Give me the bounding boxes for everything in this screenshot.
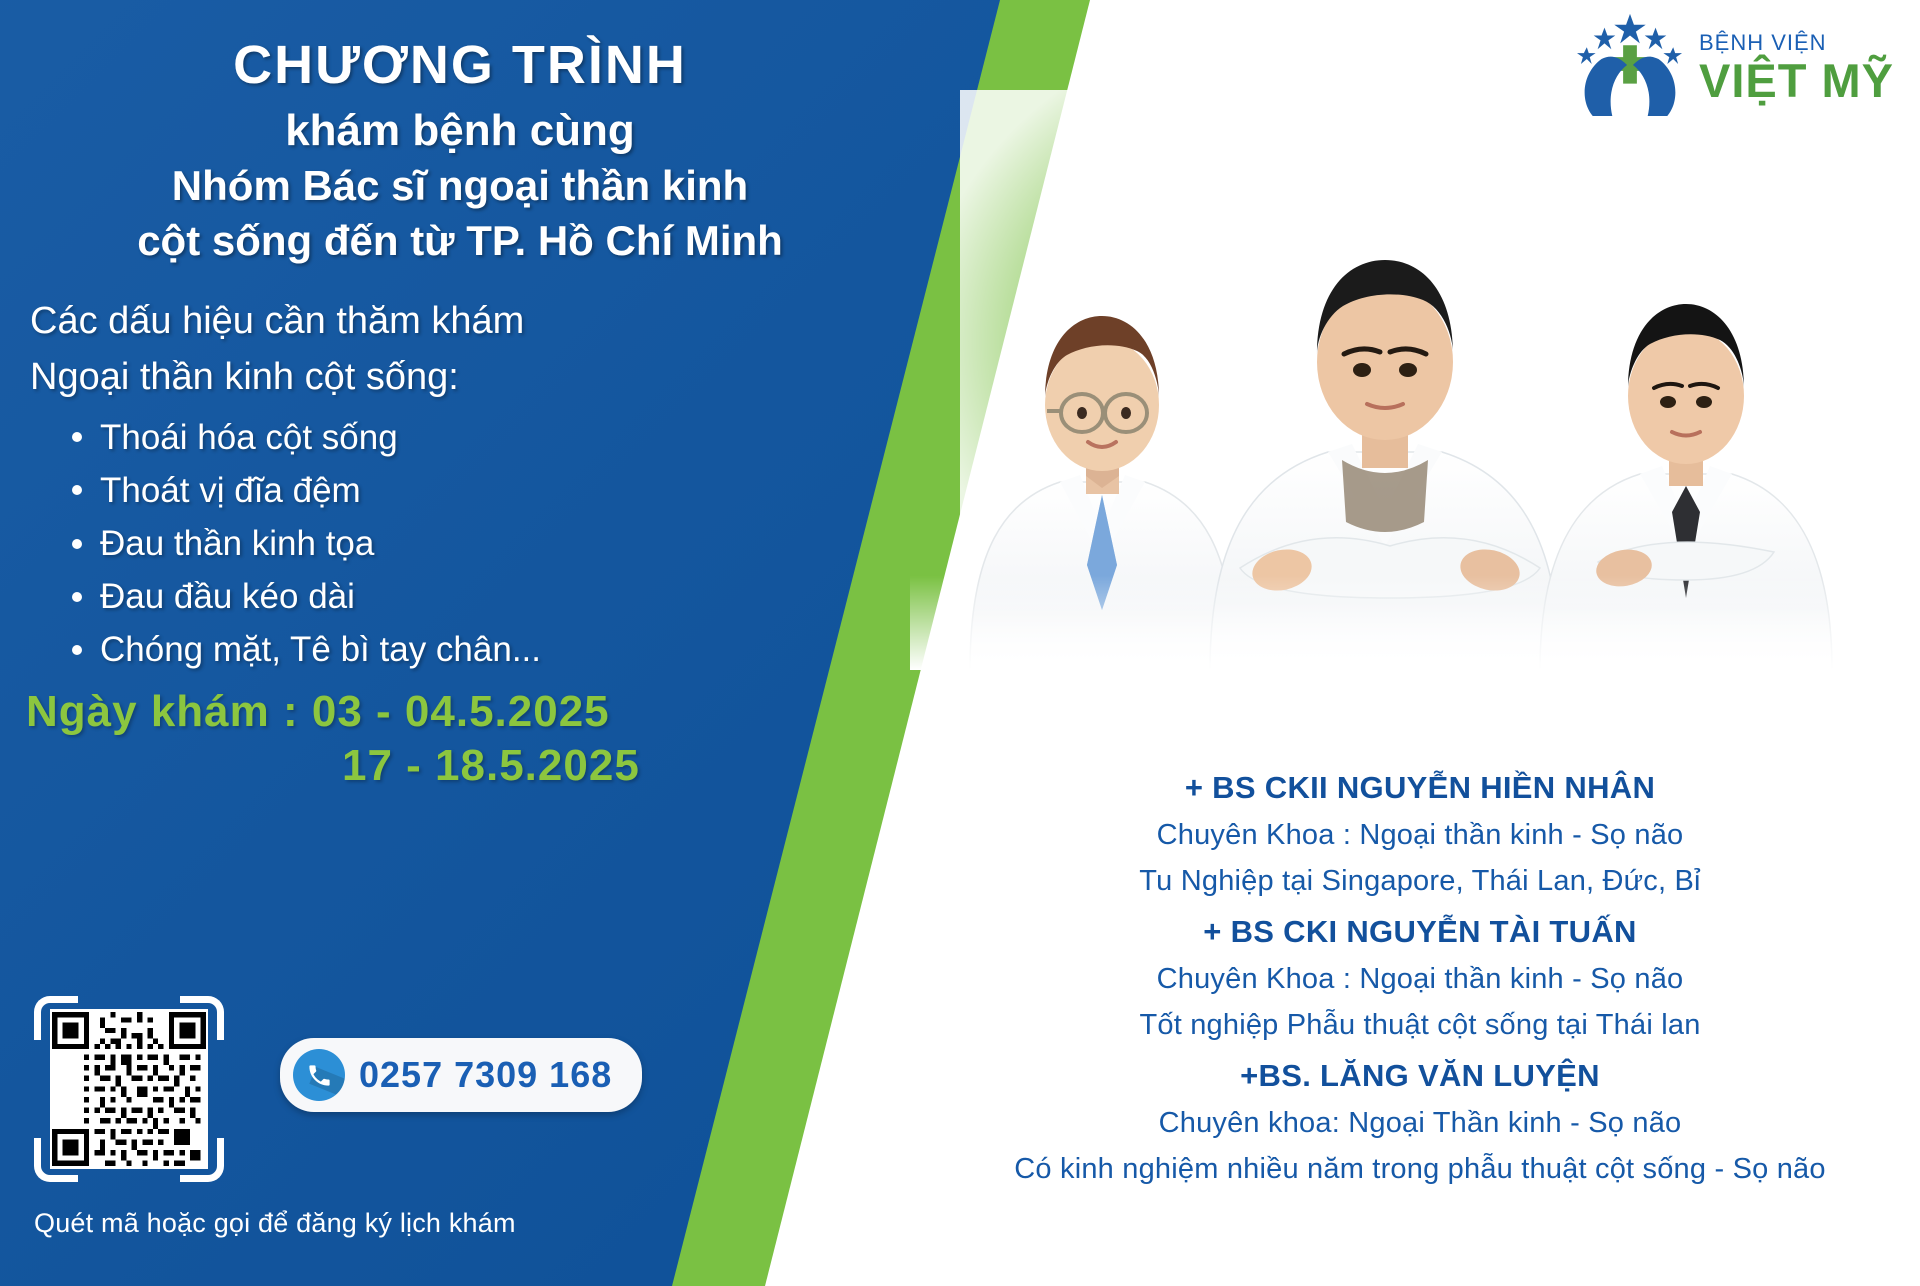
list-item: Thoát vị đĩa đệm [66,464,920,517]
headline-line-4: cột sống đến từ TP. Hồ Chí Minh [20,214,900,269]
headline-block: CHƯƠNG TRÌNH khám bệnh cùng Nhóm Bác sĩ … [0,0,920,268]
phone-icon [293,1049,345,1101]
doctor-name: + BS CKII NGUYỄN HIỀN NHÂN [920,770,1920,806]
symptoms-intro-line-2: Ngoại thần kinh cột sống: [30,350,920,405]
exam-dates-block: Ngày khám : 03 - 04.5.2025 17 - 18.5.202… [0,677,920,791]
hands-cross-stars-logo-icon [1571,8,1689,116]
doctor-detail: Tốt nghiệp Phẫu thuật cột sống tại Thái … [920,1009,1920,1042]
left-panel: CHƯƠNG TRÌNH khám bệnh cùng Nhóm Bác sĩ … [0,0,920,1286]
qr-code-block[interactable] [34,996,224,1182]
logo-main-text: VIỆT MỸ [1699,57,1894,104]
hospital-logo: BỆNH VIỆN VIỆT MỸ [1571,8,1894,116]
doctor-name: +BS. LĂNG VĂN LUYỆN [920,1058,1920,1094]
doctor-detail: Có kinh nghiệm nhiều năm trong phẫu thuậ… [920,1153,1920,1186]
list-item: Đau đầu kéo dài [66,570,920,623]
phone-number: 0257 7309 168 [359,1054,612,1096]
list-item: Chóng mặt, Tê bì tay chân... [66,623,920,676]
cta-note: Quét mã hoặc gọi để đăng ký lịch khám [34,1208,674,1239]
list-item: Đau thần kinh tọa [66,517,920,570]
logo-wordmark: BỆNH VIỆN VIỆT MỸ [1699,20,1894,104]
exam-date-line-2: 17 - 18.5.2025 [342,741,920,791]
poster-root: CHƯƠNG TRÌNH khám bệnh cùng Nhóm Bác sĩ … [0,0,1920,1286]
list-item: Thoái hóa cột sống [66,411,920,464]
doctors-photo-group [910,130,1920,670]
logo-top-text: BỆNH VIỆN [1699,32,1894,54]
doctor-detail: Tu Nghiệp tại Singapore, Thái Lan, Đức, … [920,865,1920,898]
doctor-name: + BS CKI NGUYỄN TÀI TUẤN [920,914,1920,950]
doctor-detail: Chuyên khoa: Ngoại Thần kinh - Sọ não [920,1107,1920,1140]
headline-line-3: Nhóm Bác sĩ ngoại thần kinh [20,159,900,214]
exam-date-line-1: Ngày khám : 03 - 04.5.2025 [26,687,920,737]
call-to-action-block: 0257 7309 168 Quét mã hoặc gọi để đăng k… [34,996,674,1182]
symptoms-block: Các dấu hiệu cần thăm khám Ngoại thần ki… [0,268,920,676]
symptoms-list: Thoái hóa cột sống Thoát vị đĩa đệm Đau … [66,411,920,677]
doctor-detail: Chuyên Khoa : Ngoại thần kinh - Sọ não [920,963,1920,996]
doctor-detail: Chuyên Khoa : Ngoại thần kinh - Sọ não [920,819,1920,852]
headline-line-2: khám bệnh cùng [20,102,900,159]
headline-line-1: CHƯƠNG TRÌNH [20,34,900,96]
right-panel: BỆNH VIỆN VIỆT MỸ + BS CKII NGUYỄN HIỀN … [920,0,1920,1286]
qr-code-icon[interactable] [50,1009,208,1169]
symptoms-intro-line-1: Các dấu hiệu cần thăm khám [30,294,920,349]
phone-cta-pill[interactable]: 0257 7309 168 [280,1038,642,1112]
doctors-info-block: + BS CKII NGUYỄN HIỀN NHÂN Chuyên Khoa :… [920,770,1920,1186]
